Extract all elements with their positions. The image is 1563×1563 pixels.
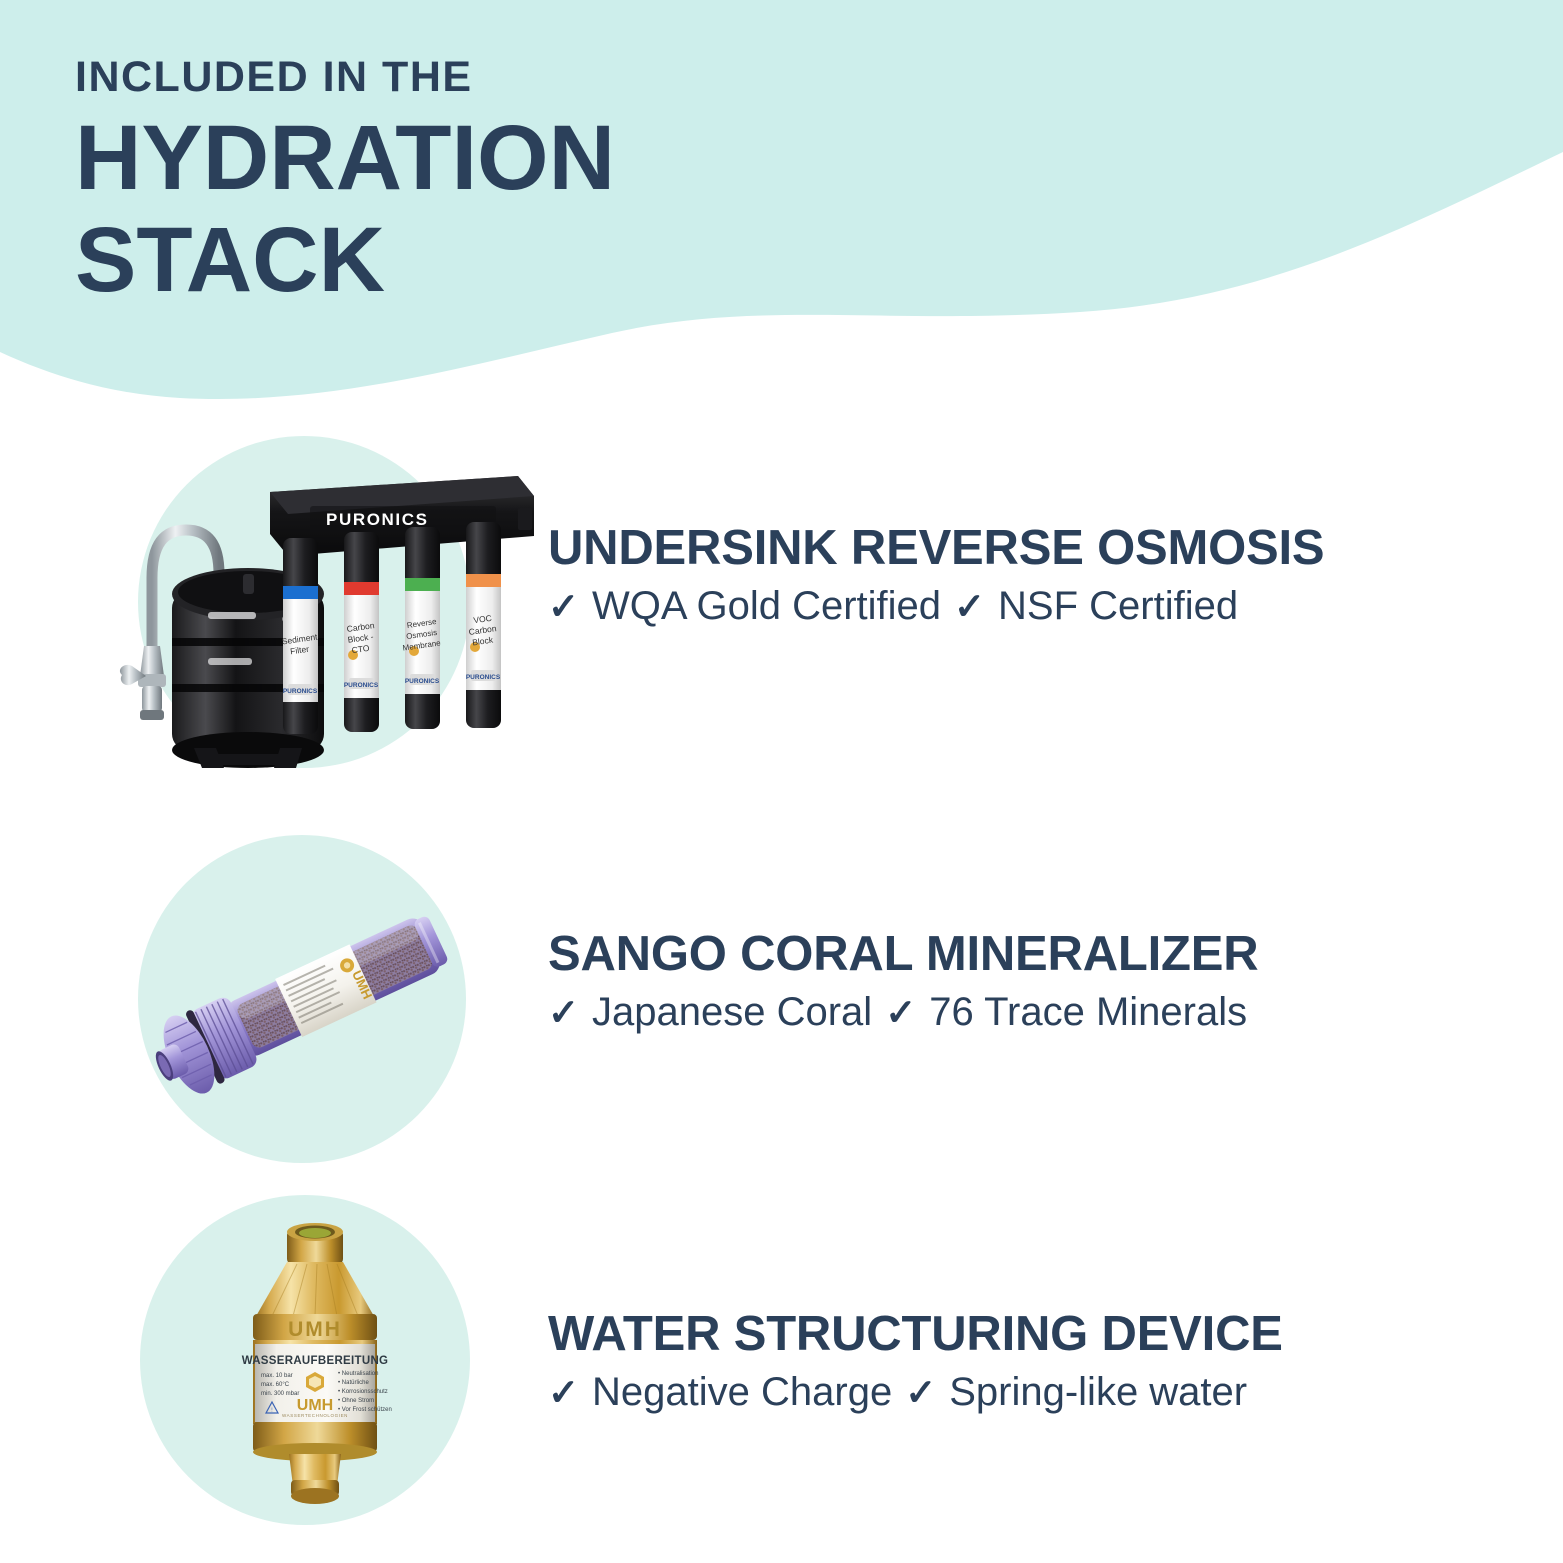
header-title-line-1: HYDRATION (75, 114, 615, 202)
umh-label-wordmark: UMH (297, 1397, 333, 1414)
product-row-sango-coral-mineralizer: UMH (0, 832, 1563, 1162)
reverse-osmosis-system-illustration: PURONICS Sediment Filter PURONICS (120, 470, 540, 770)
svg-text:max. 60°C: max. 60°C (261, 1382, 290, 1388)
svg-text:• Natürliche: • Natürliche (338, 1380, 369, 1386)
svg-text:max. 10 bar: max. 10 bar (261, 1373, 293, 1379)
svg-text:• Ohne Strom: • Ohne Strom (338, 1398, 374, 1404)
product-bullets: ✓Negative Charge✓Spring-like water (548, 1370, 1283, 1415)
product-row-undersink-reverse-osmosis: PURONICS Sediment Filter PURONICS (0, 430, 1563, 775)
header-title-line-2: STACK (75, 216, 615, 304)
svg-text:min. 300 mbar: min. 300 mbar (261, 1391, 299, 1397)
filter-cartridge-sediment-filter: Sediment Filter PURONICS (281, 538, 319, 734)
svg-text:• Neutralisation: • Neutralisation (338, 1371, 378, 1377)
water-structuring-device-illustration: UMH WASSERAUFBEREITUNG max. 10 bar max. … (225, 1214, 405, 1514)
bullet-text: Japanese Coral (592, 990, 872, 1034)
bullet-text: WQA Gold Certified (592, 584, 941, 628)
product-copy-water-structuring-device: WATER STRUCTURING DEVICE ✓Negative Charg… (548, 1310, 1283, 1415)
check-icon: ✓ (905, 1372, 936, 1413)
svg-text:PURONICS: PURONICS (405, 678, 440, 685)
check-icon: ✓ (548, 1372, 579, 1413)
filter-cartridge-reverse-osmosis-membrane: Reverse Osmosis Membrane PURONICS (402, 527, 442, 729)
umh-embossed-wordmark: UMH (288, 1318, 342, 1341)
check-icon: ✓ (548, 992, 579, 1033)
threaded-inlet-port (287, 1223, 343, 1264)
threaded-outlet-port (289, 1454, 341, 1504)
check-icon: ✓ (954, 586, 985, 627)
header-text-group: INCLUDED IN THE HYDRATION STACK (75, 55, 615, 305)
header-eyebrow: INCLUDED IN THE (75, 55, 615, 100)
product-row-water-structuring-device: UMH WASSERAUFBEREITUNG max. 10 bar max. … (0, 1192, 1563, 1530)
filter-cartridge-carbon-block-cto: Carbon Block - CTO PURONICS (344, 532, 379, 732)
svg-text:PURONICS: PURONICS (283, 688, 318, 695)
bullet-text: 76 Trace Minerals (929, 990, 1247, 1034)
bullet-text: Negative Charge (592, 1370, 892, 1414)
product-title: WATER STRUCTURING DEVICE (548, 1310, 1283, 1359)
product-bullets: ✓Japanese Coral✓76 Trace Minerals (548, 990, 1258, 1035)
product-bullets: ✓WQA Gold Certified✓NSF Certified (548, 584, 1324, 629)
sango-coral-mineralizer-illustration: UMH (150, 872, 470, 1122)
check-icon: ✓ (548, 586, 579, 627)
svg-text:PURONICS: PURONICS (344, 682, 379, 689)
check-icon: ✓ (885, 992, 916, 1033)
filter-cartridge-voc-carbon-block: VOC Carbon Block PURONICS (466, 522, 501, 728)
puronics-brand-wordmark: PURONICS (326, 510, 429, 529)
umh-label-subtext: WASSERTECHNOLOGIEN (282, 1413, 348, 1418)
svg-text:!: ! (271, 1408, 272, 1414)
svg-text:• Korrosionsschutz: • Korrosionsschutz (338, 1389, 388, 1395)
bullet-text: NSF Certified (998, 584, 1238, 628)
product-title: SANGO CORAL MINERALIZER (548, 930, 1258, 979)
inline-cartridge-body: UMH (141, 900, 456, 1106)
product-title: UNDERSINK REVERSE OSMOSIS (548, 524, 1324, 573)
label-headline: WASSERAUFBEREITUNG (242, 1355, 389, 1367)
infographic-canvas: INCLUDED IN THE HYDRATION STACK (0, 0, 1563, 1563)
product-copy-undersink-reverse-osmosis: UNDERSINK REVERSE OSMOSIS ✓WQA Gold Cert… (548, 524, 1324, 629)
product-copy-sango-coral-mineralizer: SANGO CORAL MINERALIZER ✓Japanese Coral✓… (548, 930, 1258, 1035)
bullet-text: Spring-like water (949, 1370, 1247, 1414)
svg-text:PURONICS: PURONICS (466, 674, 501, 681)
